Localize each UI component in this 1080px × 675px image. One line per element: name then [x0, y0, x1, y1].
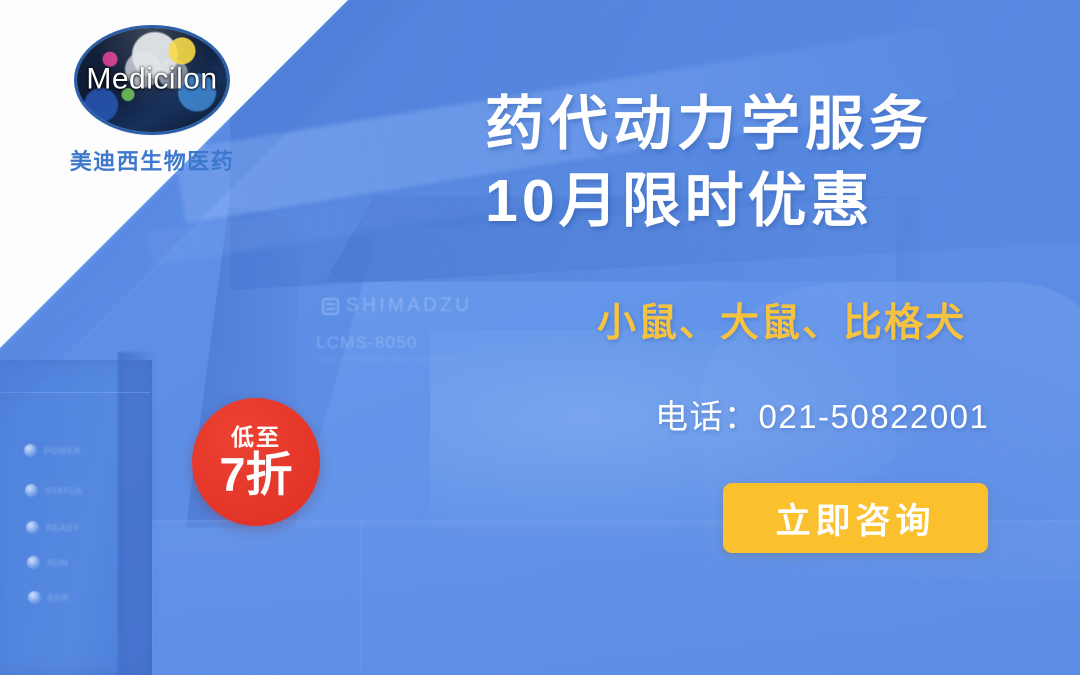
status-led-status-label: STATUS — [45, 486, 83, 496]
consult-now-button[interactable]: 立即咨询 — [723, 483, 988, 553]
status-led-run-icon — [27, 556, 40, 569]
instrument-rack-edge — [118, 352, 158, 675]
discount-badge: 低至 7折 — [192, 398, 320, 526]
brand-logo: Medicilon 美迪西生物医药 — [52, 28, 252, 176]
promo-headline: 药代动力学服务 10月限时优惠 — [485, 86, 1065, 239]
instrument-brand-text: SHIMADZU — [346, 295, 472, 317]
discount-badge-value: 7折 — [219, 451, 292, 498]
promo-headline-line2: 10月限时优惠 — [485, 163, 1065, 240]
promo-content: 药代动力学服务 10月限时优惠 小鼠、大鼠、比格犬 电话：021-5082200… — [470, 0, 1080, 675]
promo-subline: 小鼠、大鼠、比格犬 — [597, 292, 966, 348]
contact-phone: 电话：021-50822001 — [655, 390, 989, 438]
panel-seam-middle — [360, 520, 362, 675]
instrument-brand-plate: SHIMADZU — [322, 295, 472, 317]
status-led-status-icon — [25, 484, 38, 497]
status-led-ready-label: READY — [46, 523, 80, 533]
instrument-model-subtitle: Liquid Chromatograph Mass Spectrometer — [317, 357, 457, 363]
discount-badge-prefix: 低至 — [231, 426, 281, 449]
promo-headline-line1: 药代动力学服务 — [485, 86, 1065, 163]
logo-company-name-cn: 美迪西生物医药 — [52, 144, 252, 176]
status-led-run-label: RUN — [47, 558, 68, 568]
promo-banner: POWER STATUS READY RUN ERR SHIMADZU LCMS… — [0, 0, 1080, 675]
status-led-power-label: POWER — [44, 446, 81, 456]
status-led-error-label: ERR — [48, 593, 69, 603]
logo-wordmark: Medicilon — [77, 62, 227, 96]
status-led-power-icon — [24, 444, 37, 457]
status-led-ready-icon — [26, 521, 39, 534]
status-led-error-icon — [28, 591, 41, 604]
medicilon-ellipse-logo-icon: Medicilon — [77, 28, 227, 132]
shimadzu-mark-icon — [322, 298, 339, 315]
instrument-model-text: LCMS-8050 — [316, 333, 418, 353]
